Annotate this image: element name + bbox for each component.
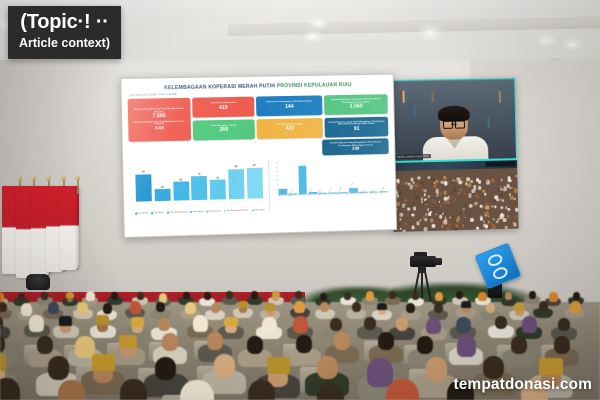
crowd-person <box>401 182 404 185</box>
bar-column: 38 <box>154 166 171 201</box>
speaker-video-feed: KEPALA DINAS KUKM RIAU <box>390 78 517 162</box>
audience-member-songkok <box>92 354 115 371</box>
legend-item: Kota Batam <box>135 212 148 214</box>
crowd-person <box>494 199 496 202</box>
bar <box>154 189 170 201</box>
ceiling-downlight <box>424 30 437 35</box>
crowd-person <box>458 192 460 194</box>
legend-item: Kab. Kepulauan Anambas <box>224 210 249 213</box>
audience-member-head <box>158 318 170 331</box>
crowd-person <box>421 197 424 200</box>
crowd-person <box>449 216 451 218</box>
audience-member-songkok <box>238 301 248 308</box>
audience-member-head <box>417 336 433 354</box>
legend-label: Kota Batam <box>138 212 148 214</box>
watermark: tempatdonasi.com <box>453 376 592 394</box>
audience-member-head <box>511 336 527 354</box>
crowd-person <box>444 176 447 179</box>
crowd-person <box>399 218 401 221</box>
audience-member-hijab <box>86 291 95 301</box>
kpi-card: Koperasi Desa/Kel yang Telah Memiliki Us… <box>128 98 191 142</box>
crowd-person <box>458 206 460 209</box>
audience-member-head <box>364 317 376 330</box>
crowd-person <box>485 224 489 228</box>
crowd-person <box>420 219 422 221</box>
audience-member-head <box>495 316 507 329</box>
crowd-person <box>502 200 504 203</box>
audience-member-head <box>226 291 233 299</box>
crowd-person <box>412 202 415 205</box>
crowd-person <box>425 213 427 215</box>
crowd-person <box>476 178 479 182</box>
audience-member-head <box>320 293 327 301</box>
audience-member-head <box>162 333 178 351</box>
audience-member-head <box>103 303 112 313</box>
crowd-person <box>460 176 463 179</box>
crowd-person <box>396 202 400 206</box>
legend-label: Kota Tanjung Pinang <box>170 211 188 213</box>
crowd-person <box>411 213 414 217</box>
crowd-person <box>400 227 402 229</box>
audience-member-hijab <box>367 358 393 387</box>
crowd-person <box>452 179 454 182</box>
bar <box>135 174 152 202</box>
crowd-person <box>500 186 503 190</box>
crowd-person <box>514 223 517 226</box>
bar-column: 75 <box>191 165 208 200</box>
crowd-person <box>482 189 485 192</box>
presentation-slide: KELEMBAGAAN KOPERASI MERAH PUTIH PROVINS… <box>121 75 396 237</box>
audience-member-head <box>137 292 144 300</box>
crowd-person <box>439 201 441 203</box>
ceiling-downlight <box>312 21 325 26</box>
hall-video-feed <box>392 159 518 232</box>
crowd-person <box>474 203 477 206</box>
crowd-person <box>403 229 406 232</box>
logo-ring-icon <box>491 265 509 281</box>
audience-member-head <box>111 292 118 300</box>
crowd-person <box>444 212 446 214</box>
book <box>431 92 433 102</box>
topic-overlay-badge: (Topic·! ·· Article context) <box>8 6 121 59</box>
crowd-person <box>415 195 419 199</box>
audience-member-head <box>295 291 302 299</box>
crowd-person <box>465 204 467 206</box>
audience-member-songkok <box>267 357 290 374</box>
audience-member-hijab <box>130 301 141 313</box>
crowd-person <box>418 177 420 180</box>
audience-member-hijab <box>185 302 196 314</box>
crowd-person <box>430 220 433 223</box>
crowd-person <box>494 205 497 208</box>
crowd-person <box>399 192 402 195</box>
kpi-subvalue: 5.63 <box>130 125 188 131</box>
crowd-person <box>480 205 482 208</box>
legend-label: Kab. Lingga <box>254 209 264 211</box>
audience-member-head <box>486 303 495 313</box>
crowd-person <box>514 188 518 193</box>
legend-item: Kota Tanjung Pinang <box>167 211 187 214</box>
audience-member-hijab <box>48 302 59 314</box>
crowd-person <box>465 217 467 219</box>
audience-member-head <box>251 291 258 299</box>
crowd-person <box>396 178 400 182</box>
legend-item: Kab. Natuna <box>190 211 203 213</box>
legend-item: Kab. Bintan <box>151 212 164 214</box>
crowd-person <box>456 180 458 183</box>
bar <box>210 180 226 200</box>
crowd-person <box>454 198 456 200</box>
bar <box>246 167 262 198</box>
audience-member-head <box>456 291 463 299</box>
kpi-card: Jumlah Kelurahan yang Sudah Menerima Aks… <box>324 94 388 115</box>
crowd-person <box>494 195 498 199</box>
crowd-person <box>507 215 510 218</box>
crowd-person <box>500 193 503 197</box>
book <box>499 91 501 103</box>
crowd-person <box>503 218 507 222</box>
crowd-person <box>442 213 444 215</box>
chart-kecamatan: 706050403020100 Batam KotaBengkongSagulu… <box>268 157 390 211</box>
legend-item: Kab. Lingga <box>251 209 264 211</box>
conference-hall-photo: KEPALA DINAS KUKM RIAU KELEMBAGAAN KOPER… <box>0 0 600 400</box>
audience-member-hijab <box>435 292 444 302</box>
bar-column: 99 <box>246 164 263 199</box>
glasses-icon <box>443 120 465 126</box>
crowd-person <box>427 195 430 198</box>
audience-member-head <box>378 332 394 350</box>
crowd-person <box>430 211 432 213</box>
crowd-person <box>433 200 437 205</box>
audience-member-songkok <box>96 315 109 325</box>
crowd-person <box>414 191 416 193</box>
crowd-person <box>406 214 408 217</box>
ceiling-downlight <box>540 38 553 43</box>
audience-member-head <box>207 332 223 350</box>
crowd-person <box>511 187 513 189</box>
audience-member-hijab <box>456 317 471 334</box>
audience-member-songkok <box>514 303 524 310</box>
hall-crowd <box>392 174 518 232</box>
crowd-person <box>431 224 435 229</box>
bar <box>228 169 245 200</box>
audience-member-hijab <box>549 292 558 302</box>
audience-member-head <box>0 378 20 400</box>
kpi-value: 144 <box>258 104 320 111</box>
audience-member-songkok <box>224 317 237 327</box>
speaker-nametag: KEPALA DINAS KUKM RIAU <box>395 154 431 159</box>
audience-member-head <box>37 336 53 354</box>
audience-member-head <box>247 336 263 354</box>
audience-member-head <box>573 292 580 300</box>
crowd-person <box>436 186 438 188</box>
audience-member-songkok <box>461 301 471 308</box>
audience-member-head <box>434 303 443 313</box>
audience-member-head <box>396 317 408 330</box>
crowd-person <box>502 214 504 217</box>
book <box>403 91 405 103</box>
audience-member-songkok <box>66 292 74 298</box>
audience-member-songkok <box>119 335 137 348</box>
audience-member-head <box>183 292 190 300</box>
chart-kabupaten: 86385975629699 Kota BatamKab. BintanKota… <box>129 160 264 215</box>
crowd-person <box>413 207 416 211</box>
kpi-card: Jumlah Koperasi yang Telah Mengakses Pem… <box>325 116 389 137</box>
audience-member-head <box>155 357 176 381</box>
bar-value-label: 99 <box>253 164 256 167</box>
crowd-person <box>416 222 419 225</box>
audience-member-head <box>214 354 235 378</box>
audience-member-hijab <box>193 315 208 332</box>
crowd-person <box>472 189 475 193</box>
audience-member-hijab <box>77 302 88 314</box>
audience-member-songkok <box>377 303 387 310</box>
legend-swatch <box>167 212 169 214</box>
bar-column: 59 <box>172 166 189 201</box>
crowd-person <box>440 205 443 208</box>
book <box>487 117 489 128</box>
overlay-subtitle: Article context) <box>19 36 110 52</box>
crowd-person <box>424 200 427 204</box>
audience-member-head <box>330 318 342 331</box>
crowd-person <box>488 215 490 217</box>
crowd-person <box>480 216 483 219</box>
crowd-person <box>507 209 510 212</box>
legend-swatch <box>151 212 153 214</box>
crowd-person <box>439 192 442 196</box>
crowd-person <box>443 220 447 224</box>
crowd-person <box>435 213 437 215</box>
audience-member-hijab <box>570 301 581 313</box>
bar <box>173 182 189 201</box>
crowd-person <box>453 200 455 202</box>
crowd-person <box>404 221 408 226</box>
crowd-person <box>515 175 517 178</box>
crowd-person <box>505 226 508 229</box>
legend-label: Kab. Kepulauan Anambas <box>227 210 249 213</box>
bar-column: 96 <box>228 164 245 199</box>
audience-member-head <box>248 380 275 400</box>
audience-member-head <box>334 332 350 350</box>
audience-member-hijab <box>294 301 305 313</box>
audience-member-head <box>505 292 512 300</box>
slide-charts: 86385975629699 Kota BatamKab. BintanKota… <box>129 157 390 215</box>
audience-member-songkok <box>59 316 72 326</box>
audience-member-hijab <box>262 317 277 334</box>
audience-member-head <box>18 293 25 301</box>
audience-member-head <box>554 336 570 354</box>
crowd-person <box>514 215 518 219</box>
indonesian-flag-row <box>0 178 78 298</box>
kpi-value: 269 <box>195 128 253 135</box>
audience-member-hijab <box>159 293 168 303</box>
crowd-person <box>499 198 502 201</box>
bar-column: 62 <box>209 165 226 200</box>
crowd-person <box>427 208 430 211</box>
crowd-person <box>460 212 462 215</box>
legend-swatch <box>251 210 253 212</box>
audience-member-head <box>344 292 351 300</box>
crowd-person <box>463 213 465 215</box>
kpi-card: Jumlah Desa/Kelurahan 419 <box>192 97 254 118</box>
audience-member-songkok <box>0 353 6 370</box>
kpi-card: Kekuatan Kelembagaan / Berbadan Hukum 14… <box>256 95 322 116</box>
bar-value-label: 96 <box>234 165 237 168</box>
legend-label: Kab. Natuna <box>193 211 204 213</box>
video-conference-panel: KEPALA DINAS KUKM RIAU <box>390 78 518 232</box>
audience-member-hijab <box>29 315 44 332</box>
crowd-person <box>497 218 499 220</box>
crowd-person <box>468 193 472 198</box>
crowd-person <box>501 179 503 181</box>
kpi-card: Desa Berstatus / Sudah 269 <box>193 119 255 140</box>
audience-member-head <box>48 356 69 380</box>
audience-member-hijab <box>293 316 308 333</box>
crowd-person <box>399 213 403 217</box>
crowd-person <box>463 208 465 210</box>
overlay-title: (Topic·! ·· <box>19 12 110 34</box>
legend-swatch <box>135 213 137 215</box>
audience-member-head <box>41 292 48 300</box>
audience-member-songkok <box>265 303 275 310</box>
crowd-person <box>500 206 503 209</box>
audience-member-songkok <box>131 317 144 327</box>
camera-lens <box>433 258 442 265</box>
kpi-value: 91 <box>327 126 386 133</box>
crowd-person <box>423 196 425 199</box>
crowd-person <box>485 180 487 183</box>
crowd-person <box>444 201 447 204</box>
crowd-person <box>410 178 413 182</box>
crowd-person <box>428 176 431 179</box>
crowd-person <box>470 180 472 183</box>
audience-member-head <box>320 302 329 312</box>
crowd-person <box>433 181 435 183</box>
audience-member-head <box>296 335 312 353</box>
crowd-person <box>415 183 419 188</box>
crowd-person <box>491 178 495 182</box>
audience-member-head <box>558 318 570 331</box>
kpi-value: 7.660 <box>130 114 188 121</box>
audience-member-hijab <box>478 292 487 302</box>
logo-ring-icon <box>486 252 504 268</box>
crowd-person <box>408 183 410 186</box>
crowd-person <box>436 207 438 209</box>
crowd-person <box>424 189 427 192</box>
crowd-person <box>493 218 495 221</box>
crowd-person <box>444 191 447 195</box>
crowd-person <box>448 223 451 226</box>
audience-member-head <box>426 357 447 381</box>
kpi-value: 419 <box>194 105 252 112</box>
crowd-person <box>460 189 463 192</box>
hall-video-tag <box>486 161 516 167</box>
kpi-card: Desa Berstatus Sedang 423 <box>257 118 323 139</box>
crowd-person <box>515 208 518 211</box>
audience-member-head <box>412 292 419 300</box>
crowd-person <box>468 183 472 187</box>
crowd-person <box>456 218 460 222</box>
crowd-person <box>404 198 407 202</box>
crowd-person <box>424 227 428 231</box>
crowd-person <box>476 194 480 198</box>
crowd-person <box>470 217 474 221</box>
legend-swatch <box>190 211 192 213</box>
crowd-person <box>459 181 462 185</box>
crowd-person <box>450 195 454 199</box>
audience-member-hijab <box>0 292 4 302</box>
crowd-person <box>463 191 467 195</box>
crowd-person <box>469 204 471 207</box>
crowd-person <box>421 201 423 203</box>
audience-member-head <box>352 302 361 312</box>
crowd-person <box>483 220 485 222</box>
crowd-person <box>462 224 465 227</box>
crowd-person <box>508 179 511 183</box>
crowd-person <box>484 193 487 196</box>
crowd-person <box>441 225 443 228</box>
bar-value-label: 86 <box>142 171 145 174</box>
crowd-person <box>443 180 447 184</box>
flag <box>60 186 79 270</box>
crowd-person <box>453 188 456 192</box>
crowd-person <box>466 181 468 183</box>
audience-member-head <box>0 302 7 312</box>
bar-column: 86 <box>135 167 152 202</box>
projection-screen: KELEMBAGAAN KOPERASI MERAH PUTIH PROVINS… <box>120 74 397 238</box>
crowd-person <box>514 198 516 200</box>
ceiling-downlight <box>306 34 319 39</box>
audience-member-head <box>406 303 415 313</box>
crowd-person <box>476 227 479 230</box>
bar <box>191 176 207 200</box>
audience-member-songkok <box>272 291 280 297</box>
kpi-value: 423 <box>259 126 321 133</box>
crowd-person <box>492 224 496 229</box>
chart-legend: Kota BatamKab. BintanKota Tanjung Pinang… <box>135 209 269 215</box>
audience-member-head <box>317 356 338 380</box>
legend-swatch <box>207 211 209 213</box>
crowd-person <box>424 218 427 221</box>
kpi-value: 238 <box>325 146 387 152</box>
crowd-person <box>436 180 438 183</box>
audience-member-head <box>120 379 147 400</box>
audience-member-head <box>211 303 220 313</box>
crowd-person <box>473 185 476 189</box>
audience-member-hijab <box>21 303 32 315</box>
crowd-person <box>440 180 443 184</box>
audience-member-songkok <box>539 358 562 375</box>
crowd-person <box>478 186 482 190</box>
crowd-person <box>446 200 449 204</box>
book <box>414 105 416 116</box>
legend-label: Kab. Karimun <box>209 211 221 213</box>
legend-item: Kab. Karimun <box>207 211 221 213</box>
crowd-person <box>485 215 487 217</box>
crowd-person <box>496 220 499 223</box>
audience-member-hijab <box>457 335 477 357</box>
audience-member-head <box>529 291 536 299</box>
crowd-person <box>491 205 493 207</box>
ceiling-downlight <box>566 42 579 47</box>
audience-member-head <box>389 291 396 299</box>
crowd-person <box>447 180 450 184</box>
kpi-card: Jumlah Koperasi Yang Mengajukan Permohon… <box>322 138 388 155</box>
crowd-person <box>509 193 511 195</box>
crowd-person <box>412 226 415 230</box>
audience-member-hijab <box>366 291 375 301</box>
speaker-hair <box>438 105 470 122</box>
